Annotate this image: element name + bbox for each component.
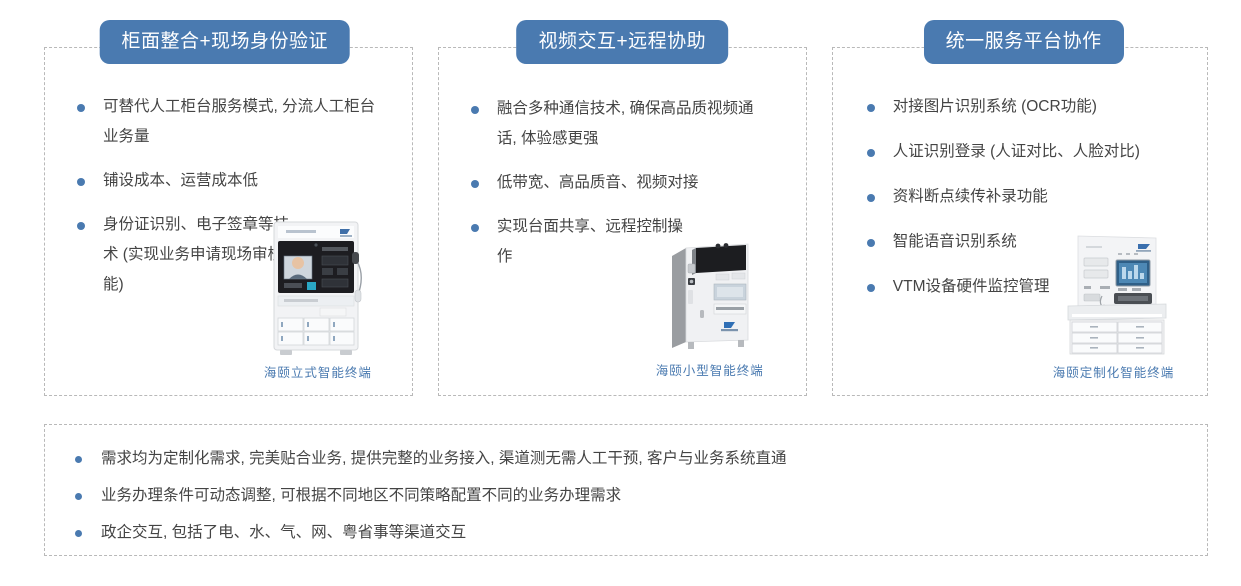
compact-kiosk-terminal-icon [658,230,762,356]
standing-kiosk-terminal-icon [260,218,376,358]
feature-card-1: 柜面整合+现场身份验证 可替代人工柜台服务模式, 分流人工柜台业务量 铺设成本、… [44,47,413,396]
bullet-text: 人证识别登录 (人证对比、人脸对比) [893,143,1140,160]
list-item: 需求均为定制化需求, 完美贴合业务, 提供完整的业务接入, 渠道测无需人工干预,… [45,447,1207,471]
bullet-text: 对接图片识别系统 (OCR功能) [893,98,1097,115]
list-item: 人证识别登录 (人证对比、人脸对比) [853,137,1183,167]
card-2-device-caption: 海颐小型智能终端 [630,360,790,379]
feature-card-2: 视频交互+远程协助 融合多种通信技术, 确保高品质视频通话, 体验感更强 低带宽… [438,47,807,396]
feature-card-3: 统一服务平台协作 对接图片识别系统 (OCR功能) 人证识别登录 (人证对比、人… [832,47,1208,396]
card-1-device: 海颐立式智能终端 [238,218,398,381]
list-item: 资料断点续传补录功能 [853,182,1183,212]
feature-cards-row: 柜面整合+现场身份验证 可替代人工柜台服务模式, 分流人工柜台业务量 铺设成本、… [44,47,1208,396]
bullet-text: 需求均为定制化需求, 完美贴合业务, 提供完整的业务接入, 渠道测无需人工干预,… [101,450,786,467]
list-item: 政企交互, 包括了电、水、气、网、粤省事等渠道交互 [45,521,1207,545]
card-3-title-pill: 统一服务平台协作 [924,20,1124,64]
bullet-text: 可替代人工柜台服务模式, 分流人工柜台业务量 [103,98,375,145]
bullet-text: 融合多种通信技术, 确保高品质视频通话, 体验感更强 [497,100,754,147]
summary-panel: 需求均为定制化需求, 完美贴合业务, 提供完整的业务接入, 渠道测无需人工干预,… [44,424,1208,556]
bullet-text: 业务办理条件可动态调整, 可根据不同地区不同策略配置不同的业务办理需求 [101,487,621,504]
bullet-text: 资料断点续传补录功能 [893,188,1048,205]
list-item: 对接图片识别系统 (OCR功能) [853,92,1183,122]
summary-bullet-list: 需求均为定制化需求, 完美贴合业务, 提供完整的业务接入, 渠道测无需人工干预,… [45,425,1207,545]
bullet-text: 铺设成本、运营成本低 [103,172,258,189]
list-item: 低带宽、高品质音、视频对接 [457,168,772,198]
card-2-device: 海颐小型智能终端 [630,230,790,379]
list-item: 可替代人工柜台服务模式, 分流人工柜台业务量 [63,92,383,152]
card-3-device: 海颐定制化智能终端 [1026,230,1201,381]
customized-kiosk-terminal-icon [1052,230,1176,358]
list-item: 铺设成本、运营成本低 [63,166,383,196]
bullet-text: 政企交互, 包括了电、水、气、网、粤省事等渠道交互 [101,524,466,541]
bullet-text: 智能语音识别系统 [893,233,1017,250]
slide-canvas: 柜面整合+现场身份验证 可替代人工柜台服务模式, 分流人工柜台业务量 铺设成本、… [0,0,1241,586]
card-1-title-pill: 柜面整合+现场身份验证 [99,20,350,64]
bullet-text: 低带宽、高品质音、视频对接 [497,174,699,191]
card-3-device-caption: 海颐定制化智能终端 [1026,362,1201,381]
list-item: 融合多种通信技术, 确保高品质视频通话, 体验感更强 [457,94,772,154]
card-1-device-caption: 海颐立式智能终端 [238,362,398,381]
card-2-title-pill: 视频交互+远程协助 [517,20,729,64]
list-item: 业务办理条件可动态调整, 可根据不同地区不同策略配置不同的业务办理需求 [45,484,1207,508]
